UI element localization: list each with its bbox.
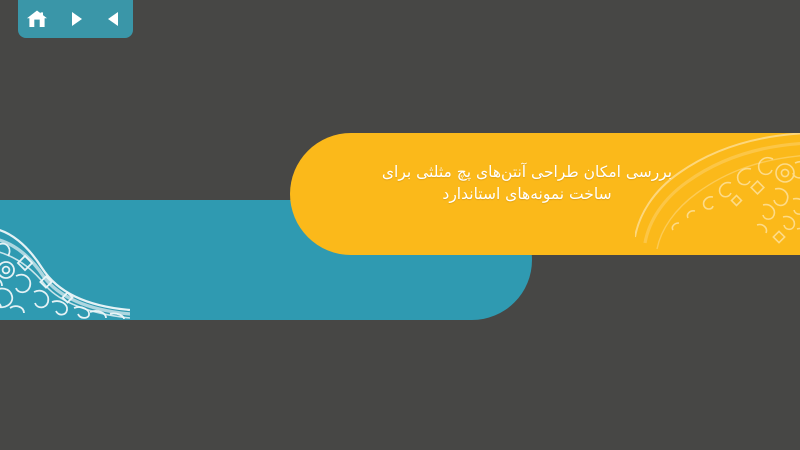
next-button[interactable]: [63, 6, 89, 32]
previous-icon: [105, 10, 123, 28]
next-icon: [67, 10, 85, 28]
title-line-2: ساخت نمونه‌های استاندارد: [362, 183, 692, 205]
arabesque-ornament-left: [0, 200, 130, 320]
title-line-1: بررسی امکان طراحی آنتن‌های پچ مثلثی برای: [362, 161, 692, 183]
page-title: بررسی امکان طراحی آنتن‌های پچ مثلثی برای…: [362, 161, 692, 206]
navigation-bar: [18, 0, 133, 38]
presentation-slide: بررسی امکان طراحی آنتن‌های پچ مثلثی برای…: [0, 0, 800, 450]
home-button[interactable]: [24, 6, 50, 32]
title-banner: بررسی امکان طراحی آنتن‌های پچ مثلثی برای…: [290, 133, 800, 255]
previous-button[interactable]: [101, 6, 127, 32]
home-icon: [26, 9, 48, 29]
